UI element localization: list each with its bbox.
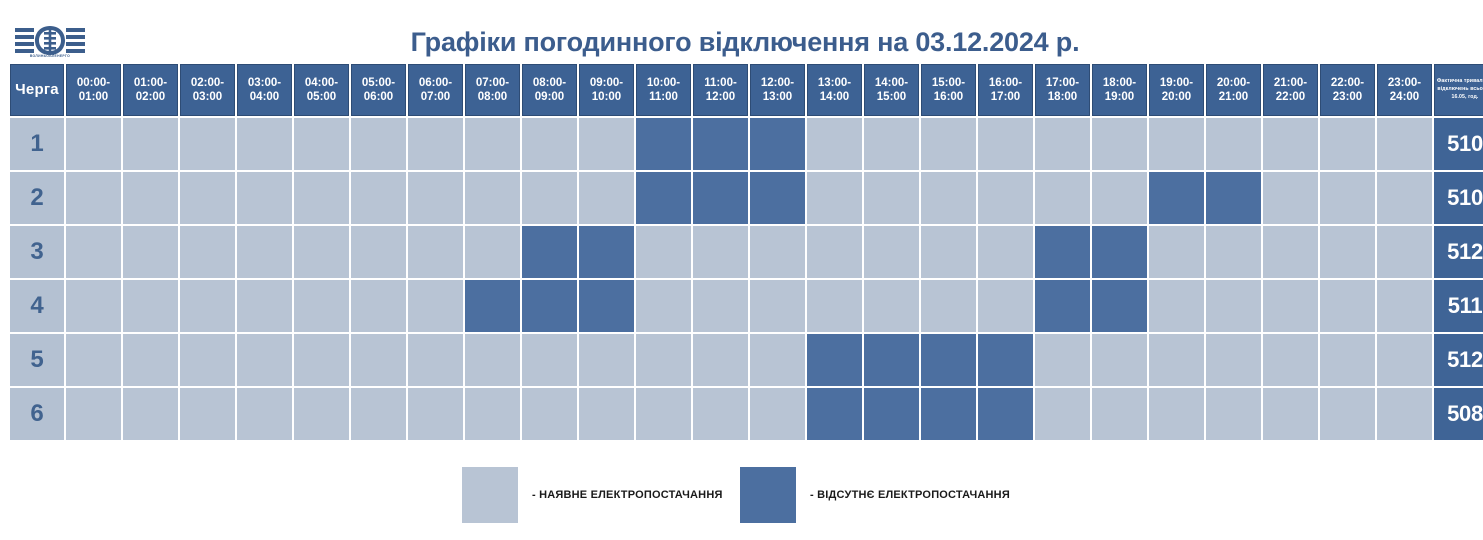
legend-swatch-outage (740, 467, 796, 523)
power-available-cell (1377, 334, 1432, 386)
power-available-cell (636, 388, 691, 440)
table-row: 2510 (10, 172, 1483, 224)
outage-cell (921, 334, 976, 386)
power-available-cell (294, 226, 349, 278)
outage-cell (636, 172, 691, 224)
power-available-cell (864, 226, 919, 278)
power-available-cell (237, 226, 292, 278)
power-available-cell (1092, 388, 1147, 440)
queue-number-cell: 6 (10, 388, 64, 440)
power-available-cell (1263, 172, 1318, 224)
legend-item-available: - НАЯВНЕ ЕЛЕКТРОПОСТАЧАННЯ (462, 466, 723, 524)
power-available-cell (237, 280, 292, 332)
power-available-cell (921, 280, 976, 332)
outage-cell (1035, 280, 1090, 332)
outage-cell (978, 334, 1033, 386)
power-available-cell (180, 280, 235, 332)
column-header-hour-10: 10:00-11:00 (636, 64, 691, 116)
column-header-hour-19: 19:00-20:00 (1149, 64, 1204, 116)
power-available-cell (1035, 172, 1090, 224)
total-duration-cell: 512 (1434, 226, 1483, 278)
power-available-cell (1092, 118, 1147, 170)
column-header-hour-12: 12:00-13:00 (750, 64, 805, 116)
outage-schedule-table-wrap: Черга 00:00-01:0001:00-02:0002:00-03:000… (8, 62, 1475, 444)
power-available-cell (978, 118, 1033, 170)
legend-label-outage: - ВІДСУТНЄ ЕЛЕКТРОПОСТАЧАННЯ (810, 489, 1010, 501)
power-available-cell (1320, 334, 1375, 386)
page-header: ВОЛИНЬОБЛЕНЕРГО Графіки погодинного відк… (0, 0, 1483, 64)
total-duration-cell: 510 (1434, 118, 1483, 170)
power-available-cell (978, 280, 1033, 332)
power-available-cell (1320, 172, 1375, 224)
column-header-hour-7: 07:00-08:00 (465, 64, 520, 116)
power-available-cell (1206, 388, 1261, 440)
legend-label-available: - НАЯВНЕ ЕЛЕКТРОПОСТАЧАННЯ (532, 489, 723, 501)
power-available-cell (807, 226, 862, 278)
power-available-cell (693, 226, 748, 278)
page-title: Графіки погодинного відключення на 03.12… (120, 27, 1370, 58)
outage-schedule-table: Черга 00:00-01:0001:00-02:0002:00-03:000… (8, 62, 1483, 442)
power-available-cell (123, 172, 178, 224)
power-available-cell (1206, 118, 1261, 170)
power-available-cell (1263, 226, 1318, 278)
column-header-hour-17: 17:00-18:00 (1035, 64, 1090, 116)
total-duration-cell: 512 (1434, 334, 1483, 386)
power-available-cell (978, 226, 1033, 278)
outage-cell (1206, 172, 1261, 224)
power-available-cell (807, 280, 862, 332)
power-available-cell (579, 334, 634, 386)
power-available-cell (123, 118, 178, 170)
table-body: 151025103512451155126508 (10, 118, 1483, 440)
power-available-cell (807, 172, 862, 224)
power-available-cell (1263, 118, 1318, 170)
column-header-hour-9: 09:00-10:00 (579, 64, 634, 116)
power-available-cell (750, 334, 805, 386)
outage-cell (522, 280, 577, 332)
column-header-hour-20: 20:00-21:00 (1206, 64, 1261, 116)
power-available-cell (1377, 172, 1432, 224)
power-available-cell (237, 118, 292, 170)
power-available-cell (351, 388, 406, 440)
power-available-cell (1263, 334, 1318, 386)
power-available-cell (1377, 280, 1432, 332)
power-available-cell (351, 172, 406, 224)
column-header-hour-4: 04:00-05:00 (294, 64, 349, 116)
power-available-cell (1149, 226, 1204, 278)
column-header-hour-23: 23:00-24:00 (1377, 64, 1432, 116)
power-available-cell (1149, 280, 1204, 332)
table-row: 3512 (10, 226, 1483, 278)
outage-cell (1035, 226, 1090, 278)
power-available-cell (864, 172, 919, 224)
power-available-cell (636, 226, 691, 278)
power-available-cell (750, 388, 805, 440)
power-available-cell (351, 118, 406, 170)
table-row: 5512 (10, 334, 1483, 386)
table-header-row: Черга 00:00-01:0001:00-02:0002:00-03:000… (10, 64, 1483, 116)
outage-cell (1149, 172, 1204, 224)
queue-number-cell: 1 (10, 118, 64, 170)
power-available-cell (1206, 334, 1261, 386)
power-available-cell (1320, 118, 1375, 170)
column-header-hour-16: 16:00-17:00 (978, 64, 1033, 116)
power-available-cell (465, 388, 520, 440)
power-available-cell (294, 280, 349, 332)
power-available-cell (921, 226, 976, 278)
power-available-cell (237, 172, 292, 224)
power-available-cell (408, 388, 463, 440)
power-available-cell (294, 388, 349, 440)
legend: - НАЯВНЕ ЕЛЕКТРОПОСТАЧАННЯ - ВІДСУТНЄ ЕЛ… (0, 466, 1483, 530)
outage-cell (1092, 280, 1147, 332)
power-available-cell (978, 172, 1033, 224)
column-header-hour-2: 02:00-03:00 (180, 64, 235, 116)
outage-cell (579, 280, 634, 332)
power-available-cell (522, 172, 577, 224)
table-header: Черга 00:00-01:0001:00-02:0002:00-03:000… (10, 64, 1483, 116)
power-available-cell (408, 226, 463, 278)
power-available-cell (750, 280, 805, 332)
power-available-cell (522, 118, 577, 170)
power-available-cell (1320, 226, 1375, 278)
power-available-cell (123, 226, 178, 278)
power-available-cell (1092, 334, 1147, 386)
power-available-cell (579, 388, 634, 440)
queue-number-cell: 5 (10, 334, 64, 386)
power-available-cell (66, 226, 121, 278)
power-available-cell (1035, 118, 1090, 170)
power-available-cell (1377, 118, 1432, 170)
column-header-hour-6: 06:00-07:00 (408, 64, 463, 116)
column-header-hour-15: 15:00-16:00 (921, 64, 976, 116)
total-duration-cell: 511 (1434, 280, 1483, 332)
power-available-cell (1320, 280, 1375, 332)
power-available-cell (408, 118, 463, 170)
power-available-cell (1377, 388, 1432, 440)
outage-cell (693, 172, 748, 224)
power-available-cell (864, 118, 919, 170)
queue-number-cell: 2 (10, 172, 64, 224)
power-available-cell (66, 334, 121, 386)
outage-cell (807, 388, 862, 440)
column-header-total: Фактична тривалість відключень всього з … (1434, 64, 1483, 116)
power-available-cell (66, 118, 121, 170)
power-available-cell (864, 280, 919, 332)
power-available-cell (1149, 118, 1204, 170)
column-header-hour-3: 03:00-04:00 (237, 64, 292, 116)
column-header-hour-8: 08:00-09:00 (522, 64, 577, 116)
queue-number-cell: 4 (10, 280, 64, 332)
column-header-queue: Черга (10, 64, 64, 116)
total-duration-cell: 508 (1434, 388, 1483, 440)
power-available-cell (123, 388, 178, 440)
column-header-hour-0: 00:00-01:00 (66, 64, 121, 116)
power-available-cell (180, 226, 235, 278)
power-available-cell (465, 118, 520, 170)
power-available-cell (408, 172, 463, 224)
power-available-cell (579, 172, 634, 224)
power-available-cell (579, 118, 634, 170)
power-available-cell (351, 226, 406, 278)
power-available-cell (693, 388, 748, 440)
logo-caption: ВОЛИНЬОБЛЕНЕРГО (17, 54, 83, 58)
outage-cell (636, 118, 691, 170)
column-header-hour-14: 14:00-15:00 (864, 64, 919, 116)
power-available-cell (123, 280, 178, 332)
queue-number-cell: 3 (10, 226, 64, 278)
power-available-cell (636, 280, 691, 332)
power-available-cell (123, 334, 178, 386)
column-header-hour-21: 21:00-22:00 (1263, 64, 1318, 116)
power-available-cell (1149, 334, 1204, 386)
legend-item-outage: - ВІДСУТНЄ ЕЛЕКТРОПОСТАЧАННЯ (740, 466, 1010, 524)
outage-cell (579, 226, 634, 278)
outage-cell (465, 280, 520, 332)
table-row: 4511 (10, 280, 1483, 332)
column-header-hour-13: 13:00-14:00 (807, 64, 862, 116)
power-available-cell (66, 280, 121, 332)
power-available-cell (1206, 280, 1261, 332)
outage-cell (750, 118, 805, 170)
power-available-cell (66, 388, 121, 440)
outage-cell (750, 172, 805, 224)
table-row: 1510 (10, 118, 1483, 170)
power-available-cell (522, 388, 577, 440)
column-header-hour-18: 18:00-19:00 (1092, 64, 1147, 116)
power-available-cell (294, 172, 349, 224)
power-available-cell (921, 172, 976, 224)
power-available-cell (921, 118, 976, 170)
total-duration-cell: 510 (1434, 172, 1483, 224)
power-available-cell (66, 172, 121, 224)
power-available-cell (237, 334, 292, 386)
outage-cell (807, 334, 862, 386)
power-available-cell (408, 334, 463, 386)
power-available-cell (294, 334, 349, 386)
power-available-cell (351, 334, 406, 386)
power-available-cell (180, 118, 235, 170)
power-available-cell (465, 172, 520, 224)
power-available-cell (180, 388, 235, 440)
table-row: 6508 (10, 388, 1483, 440)
power-available-cell (180, 172, 235, 224)
power-available-cell (237, 388, 292, 440)
power-available-cell (1092, 172, 1147, 224)
power-available-cell (351, 280, 406, 332)
power-available-cell (750, 226, 805, 278)
outage-cell (864, 388, 919, 440)
column-header-hour-5: 05:00-06:00 (351, 64, 406, 116)
power-available-cell (1149, 388, 1204, 440)
power-available-cell (1035, 388, 1090, 440)
power-available-cell (294, 118, 349, 170)
outage-cell (864, 334, 919, 386)
power-available-cell (1263, 388, 1318, 440)
power-available-cell (522, 334, 577, 386)
power-available-cell (1206, 226, 1261, 278)
power-available-cell (1320, 388, 1375, 440)
power-available-cell (465, 226, 520, 278)
power-available-cell (1377, 226, 1432, 278)
schedule-page: ВОЛИНЬОБЛЕНЕРГО Графіки погодинного відк… (0, 0, 1483, 540)
column-header-hour-1: 01:00-02:00 (123, 64, 178, 116)
power-available-cell (1263, 280, 1318, 332)
power-available-cell (807, 118, 862, 170)
power-available-cell (180, 334, 235, 386)
power-available-cell (693, 280, 748, 332)
outage-cell (522, 226, 577, 278)
column-header-hour-22: 22:00-23:00 (1320, 64, 1375, 116)
outage-cell (921, 388, 976, 440)
power-available-cell (1035, 334, 1090, 386)
power-available-cell (693, 334, 748, 386)
outage-cell (978, 388, 1033, 440)
power-available-cell (465, 334, 520, 386)
outage-cell (693, 118, 748, 170)
outage-cell (1092, 226, 1147, 278)
power-available-cell (636, 334, 691, 386)
legend-swatch-available (462, 467, 518, 523)
column-header-hour-11: 11:00-12:00 (693, 64, 748, 116)
power-available-cell (408, 280, 463, 332)
